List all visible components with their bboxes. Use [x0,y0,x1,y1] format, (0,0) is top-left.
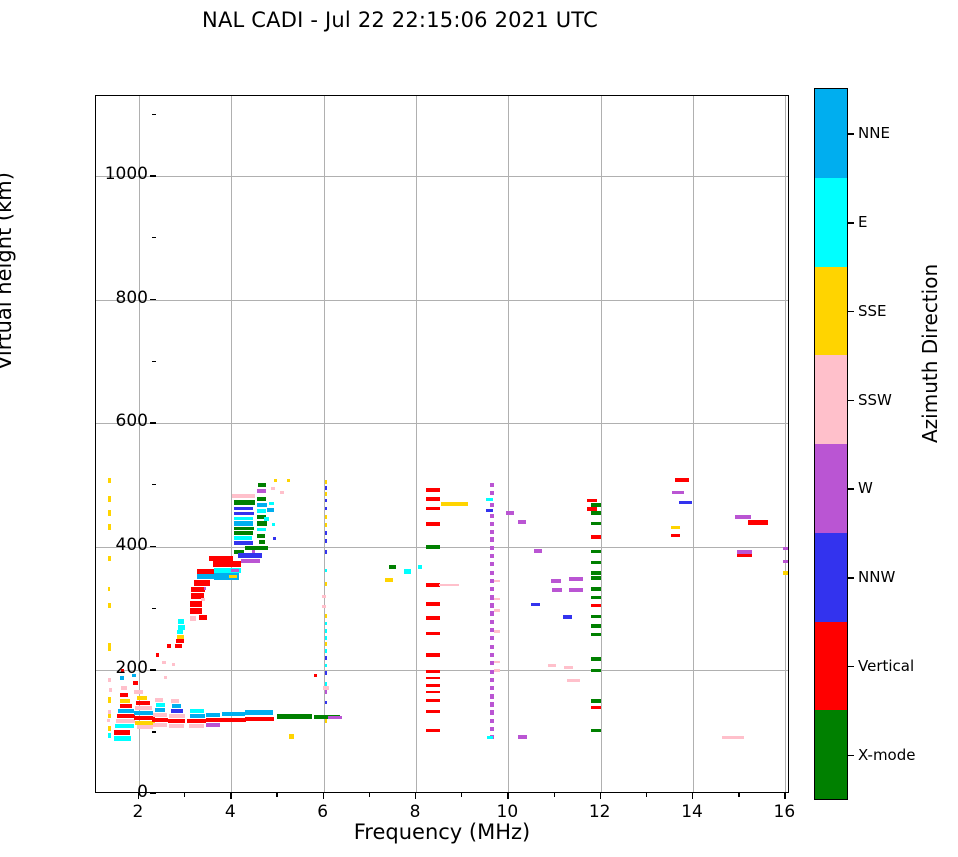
data-point-w [490,636,495,640]
data-point-w [257,489,266,493]
data-point-ssw [722,736,744,739]
x-tick-mark [138,793,139,799]
plot-canvas [96,96,788,792]
data-point-e [257,509,266,513]
chart-title: NAL CADI - Jul 22 22:15:06 2021 UTC [0,8,800,32]
gridline-horizontal [96,670,788,671]
data-point-vertical [245,717,274,721]
colorbar-segment-nne [815,89,847,178]
data-point-vertical [591,604,601,608]
x-tick-label: 16 [764,802,804,822]
data-point-nnw [563,615,572,619]
data-point-ssw [494,669,500,671]
colorbar-segment-x-mode [815,710,847,799]
data-point-sse [108,697,111,703]
data-point-vertical [426,497,440,501]
data-point-w [490,537,495,541]
data-point-e [404,569,410,573]
data-point-w [490,719,495,723]
data-point-vertical [426,729,440,732]
data-point-nnw [679,501,692,505]
data-point-w [490,491,495,495]
data-point-nnw [234,541,253,545]
x-tick-mark [784,793,785,799]
data-point-vertical [748,520,767,525]
data-point-w [783,560,788,563]
data-point-sse [325,492,327,496]
data-point-sse [108,510,111,516]
data-point-e [115,724,134,728]
y-tick-mark [150,793,156,794]
data-point-nnw [234,512,254,516]
data-point-e [325,636,327,640]
data-point-e [487,736,493,739]
y-tick-mark [150,669,156,670]
y-tick-mark [150,546,156,547]
colorbar-tick [848,755,854,756]
data-point-x-mode [591,657,601,661]
colorbar-title: Azimuth Direction [918,264,942,443]
data-point-sse [325,719,327,723]
data-point-vertical [152,718,168,722]
data-point-vertical [426,710,440,713]
data-point-x-mode [234,531,253,535]
x-axis-label: Frequency (MHz) [95,820,789,844]
data-point-sse [325,515,327,519]
data-point-nne [257,503,267,507]
data-point-sse [108,603,111,608]
data-point-sse [325,480,327,484]
gridline-vertical [139,96,140,792]
data-point-e [325,664,327,668]
y-tick-label: 400 [116,535,148,555]
data-point-w [490,514,495,518]
data-point-sse [325,642,327,646]
y-tick-label: 1000 [105,164,148,184]
data-point-x-mode [591,503,601,507]
data-point-nnw [325,539,327,543]
y-tick-mark [150,422,156,423]
data-point-sse [783,571,788,575]
data-point-w [534,549,542,553]
data-point-sse [325,523,327,527]
data-point-ssw [162,661,166,664]
plot-area [95,95,789,793]
data-point-ssw [135,706,152,710]
data-point-nnw [171,709,183,713]
colorbar-segment-e [815,178,847,267]
data-point-sse [108,556,111,560]
data-point-vertical [426,677,440,679]
data-point-ssw [567,679,580,682]
x-tick-label: 14 [672,802,712,822]
data-point-ssw [494,609,500,611]
data-point-ssw [190,616,196,620]
colorbar-label-sse: SSE [858,302,887,320]
colorbar-segment-sse [815,267,847,356]
x-tick-label: 2 [118,802,158,822]
data-point-w [325,690,328,694]
data-point-x-mode [259,540,265,544]
y-tick-label: 0 [137,782,148,802]
data-point-vertical [168,719,185,723]
data-point-w [672,491,684,494]
data-point-x-mode [426,545,440,549]
data-point-vertical [591,706,601,710]
data-point-sse [108,478,111,483]
data-point-x-mode [257,497,266,501]
y-axis-label: Virtual height (km) [0,172,16,370]
data-point-e [325,629,327,633]
colorbar-tick [848,577,854,578]
x-minor-tick-mark [276,793,277,797]
gridline-vertical [416,96,417,792]
gridline-vertical [508,96,509,792]
gridline-vertical [693,96,694,792]
data-point-w [551,579,561,583]
data-point-ssw [137,725,154,729]
x-tick-label: 10 [487,802,527,822]
data-point-nnw [325,507,327,511]
data-point-vertical [136,701,150,705]
data-point-ssw [107,719,110,723]
data-point-nne [190,714,206,718]
data-point-vertical [426,583,440,587]
y-tick-label: 200 [116,658,148,678]
data-point-w [490,710,495,714]
x-tick-label: 12 [580,802,620,822]
data-point-w [206,723,220,727]
x-tick-mark [507,793,508,799]
data-point-e [325,569,327,573]
x-minor-tick-mark [461,793,462,797]
data-point-ssw [116,719,135,723]
data-point-vertical [176,639,184,643]
data-point-vertical [133,681,138,685]
colorbar-label-e: E [858,213,867,231]
colorbar-label-w: W [858,479,873,497]
data-point-ssw [153,713,167,717]
colorbar: NNEESSESSWWNNWVerticalX-mode [814,88,848,800]
data-point-ssw [134,690,142,694]
x-tick-mark [600,793,601,799]
data-point-vertical [675,478,689,482]
data-point-vertical [114,730,131,735]
colorbar-tick [848,133,854,134]
y-tick-mark [150,175,156,176]
y-tick-mark [150,299,156,300]
data-point-x-mode [389,565,395,569]
data-point-w [490,694,495,698]
data-point-ssw [280,491,284,494]
data-point-e [190,709,204,713]
data-point-vertical [209,556,233,561]
data-point-x-mode [591,576,601,580]
data-point-sse [120,699,129,703]
data-point-x-mode [234,500,255,504]
data-point-vertical [426,522,440,526]
data-point-sse [108,587,110,591]
data-point-e [486,498,492,501]
data-point-w [490,603,495,607]
data-point-vertical [120,693,127,697]
gridline-vertical [601,96,602,792]
data-point-w [490,562,495,566]
y-tick-label: 600 [116,411,148,431]
data-point-w [490,645,495,649]
data-point-w [490,620,495,624]
data-point-e [272,523,275,526]
data-point-x-mode [591,729,601,733]
data-point-nne [134,711,152,715]
data-point-ssw [322,595,327,598]
data-point-vertical [591,535,601,539]
data-point-ssw [494,580,500,582]
data-point-vertical [206,718,223,722]
data-point-nnw [325,671,327,675]
data-point-ssw [232,494,255,498]
y-minor-tick-mark [152,237,156,238]
data-point-x-mode [591,571,601,575]
data-point-ssw [121,686,127,690]
data-point-vertical [117,714,135,718]
data-point-sse [108,726,111,732]
data-point-vertical [737,554,752,557]
data-point-sse [108,643,111,651]
data-point-ssw [169,714,185,718]
data-point-nnw [238,553,262,557]
data-point-ssw [271,487,276,490]
data-point-e [234,517,253,521]
data-point-x-mode [591,587,601,591]
data-point-ssw [439,584,459,586]
gridline-horizontal [96,423,788,424]
data-point-w [783,547,788,550]
x-minor-tick-mark [184,793,185,797]
data-point-ssw [548,664,556,667]
colorbar-segment-nnw [815,533,847,622]
x-tick-label: 4 [210,802,250,822]
data-point-ssw [169,724,184,728]
data-point-w [490,611,495,615]
y-minor-tick-mark [152,484,156,485]
data-point-w [241,559,259,563]
data-point-x-mode [277,714,312,719]
data-point-vertical [426,699,440,702]
data-point-nne [155,708,165,712]
data-point-e [257,528,266,532]
data-point-ssw [189,724,205,728]
gridline-vertical [231,96,232,792]
data-point-nne [267,508,273,512]
data-point-ssw [153,723,167,727]
data-point-x-mode [591,624,601,628]
data-point-vertical [426,670,440,673]
data-point-vertical [426,691,440,693]
data-point-x-mode [591,669,601,673]
gridline-horizontal [96,300,788,301]
x-minor-tick-mark [554,793,555,797]
colorbar-segment-vertical [815,622,847,711]
colorbar-tick [848,222,854,223]
data-point-vertical [314,674,316,677]
data-point-x-mode [591,561,601,565]
data-point-nne [118,709,134,713]
data-point-vertical [167,644,171,648]
data-point-vertical [426,602,440,606]
y-tick-label: 800 [116,288,148,308]
data-point-x-mode [591,596,601,600]
x-minor-tick-mark [369,793,370,797]
data-point-sse [385,578,394,582]
data-point-nne [172,704,181,708]
colorbar-tick [848,666,854,667]
data-point-vertical [190,608,202,614]
data-point-sse [274,479,278,482]
colorbar-tick [848,311,854,312]
data-point-sse [287,479,291,482]
data-point-e [114,736,132,742]
data-point-vertical [222,718,246,722]
data-point-ssw [164,676,166,679]
data-point-sse [108,524,111,530]
data-point-sse [137,696,147,700]
data-point-w [490,530,495,534]
x-tick-mark [692,793,693,799]
data-point-vertical [426,684,440,687]
data-point-nne [234,521,253,525]
data-point-vertical [199,615,207,620]
data-point-nnw [325,531,327,535]
data-point-sse [671,526,680,529]
data-point-vertical [120,704,133,708]
data-point-vertical [426,488,440,492]
y-minor-tick-mark [152,361,156,362]
data-point-w [490,587,495,591]
data-point-w [490,546,495,550]
y-minor-tick-mark [152,731,156,732]
data-point-ssw [108,678,111,682]
data-point-e [234,536,252,540]
data-point-e [108,733,111,739]
data-point-e [418,565,422,569]
colorbar-segment-w [815,444,847,533]
data-point-w [231,569,238,573]
data-point-nnw [486,509,492,511]
data-point-nnw [325,656,327,660]
data-point-w [490,686,495,690]
data-point-e [264,517,270,521]
x-tick-mark [230,793,231,799]
data-point-w [490,554,495,558]
data-point-vertical [587,499,597,503]
gridline-horizontal [96,176,788,177]
data-point-sse [108,714,111,718]
data-point-nne [206,713,220,717]
data-point-vertical [426,616,440,620]
colorbar-label-nnw: NNW [858,568,895,586]
data-point-x-mode [245,546,268,550]
colorbar-tick [848,488,854,489]
y-minor-tick-mark [152,608,156,609]
data-point-sse [325,582,327,586]
data-point-sse [108,496,111,502]
data-point-ssw [494,661,500,663]
data-point-ssw [494,598,500,600]
data-point-vertical [187,719,205,723]
data-point-w [518,520,526,524]
data-point-w [490,571,495,575]
data-point-w [569,588,583,592]
x-minor-tick-mark [738,793,739,797]
data-point-nnw [531,603,539,607]
data-point-vertical [213,561,241,567]
colorbar-label-nne: NNE [858,124,890,142]
data-point-w [490,483,495,487]
data-point-nnw [325,486,327,490]
data-point-x-mode [258,483,266,487]
data-point-nnw [234,507,253,511]
data-point-ssw [109,688,112,692]
data-point-vertical [175,644,182,648]
data-point-nne [245,710,273,715]
data-point-e [178,625,185,630]
data-point-w [490,653,495,657]
data-point-w [518,735,527,739]
data-point-ssw [171,699,178,703]
colorbar-label-vertical: Vertical [858,657,914,675]
data-point-e [269,502,274,505]
data-point-x-mode [257,534,265,538]
data-point-vertical [671,534,680,537]
colorbar-segment-ssw [815,355,847,444]
x-tick-mark [323,793,324,799]
colorbar-label-x-mode: X-mode [858,746,915,764]
data-point-vertical [190,601,202,607]
gridline-horizontal [96,547,788,548]
data-point-e [156,703,165,707]
data-point-ssw [172,663,175,666]
data-point-w [490,503,495,507]
x-tick-label: 8 [395,802,435,822]
data-point-sse [325,614,327,618]
data-point-nne [222,712,245,716]
data-point-w [506,511,514,515]
data-point-w [490,678,495,682]
data-point-vertical [426,653,440,657]
data-point-sse [289,734,294,739]
data-point-w [490,727,495,731]
data-point-ssw [201,598,205,602]
data-point-x-mode [591,615,601,618]
data-point-ssw [155,698,163,702]
colorbar-label-ssw: SSW [858,391,892,409]
data-point-x-mode [591,633,601,637]
y-minor-tick-mark [152,114,156,115]
colorbar-tick [848,400,854,401]
data-point-w [490,702,495,706]
data-point-e [325,649,327,653]
data-point-e [325,622,327,626]
data-point-ssw [322,605,327,608]
data-point-w [569,577,583,581]
data-point-vertical [191,587,205,592]
data-point-ssw [494,630,500,632]
data-point-sse [229,575,237,579]
data-point-vertical [156,653,158,656]
data-point-sse [177,635,184,639]
data-point-x-mode [591,511,601,515]
